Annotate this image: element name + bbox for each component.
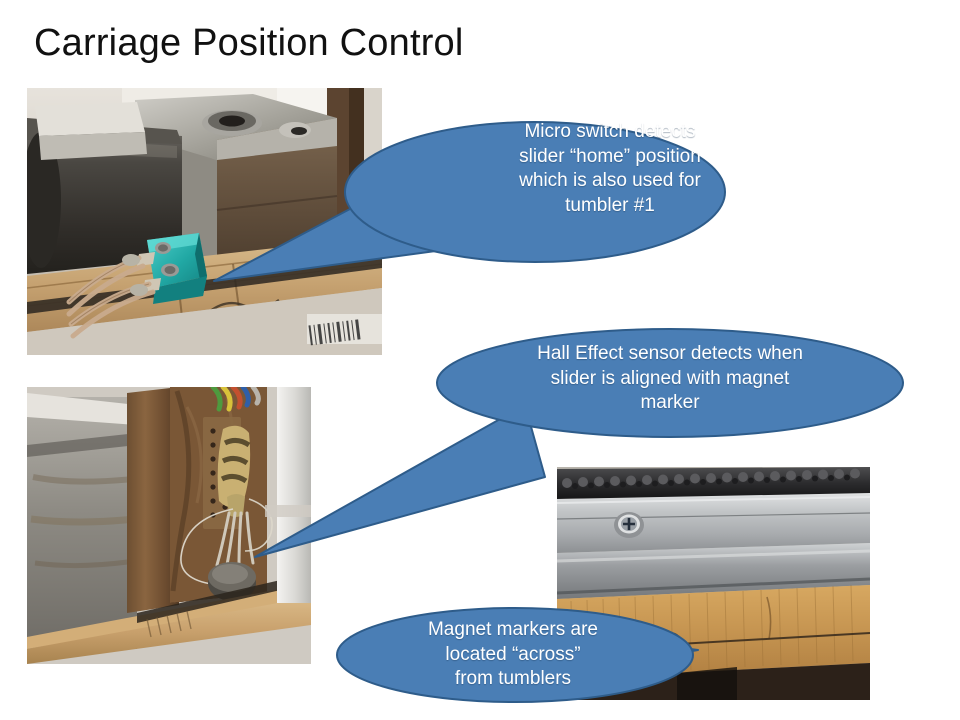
callout-magnet-markers-shape: [330, 605, 710, 710]
callout-hall-effect-sensor-tail: [255, 405, 545, 557]
callout-micro-switch-shape: [180, 95, 800, 310]
callout-micro-switch[interactable]: Micro switch detects slider “home” posit…: [180, 95, 800, 310]
callout-hall-effect-sensor-bubble: [437, 329, 903, 437]
callout-hall-effect-sensor-shape: [245, 325, 915, 565]
slide-canvas: Carriage Position Control: [0, 0, 960, 720]
callout-micro-switch-bubble: [345, 122, 725, 262]
page-title: Carriage Position Control: [34, 22, 464, 66]
callout-magnet-markers[interactable]: Magnet markers are located “across” from…: [330, 605, 710, 710]
callout-hall-effect-sensor[interactable]: Hall Effect sensor detects when slider i…: [245, 325, 915, 565]
callout-magnet-markers-bubble: [337, 608, 693, 702]
